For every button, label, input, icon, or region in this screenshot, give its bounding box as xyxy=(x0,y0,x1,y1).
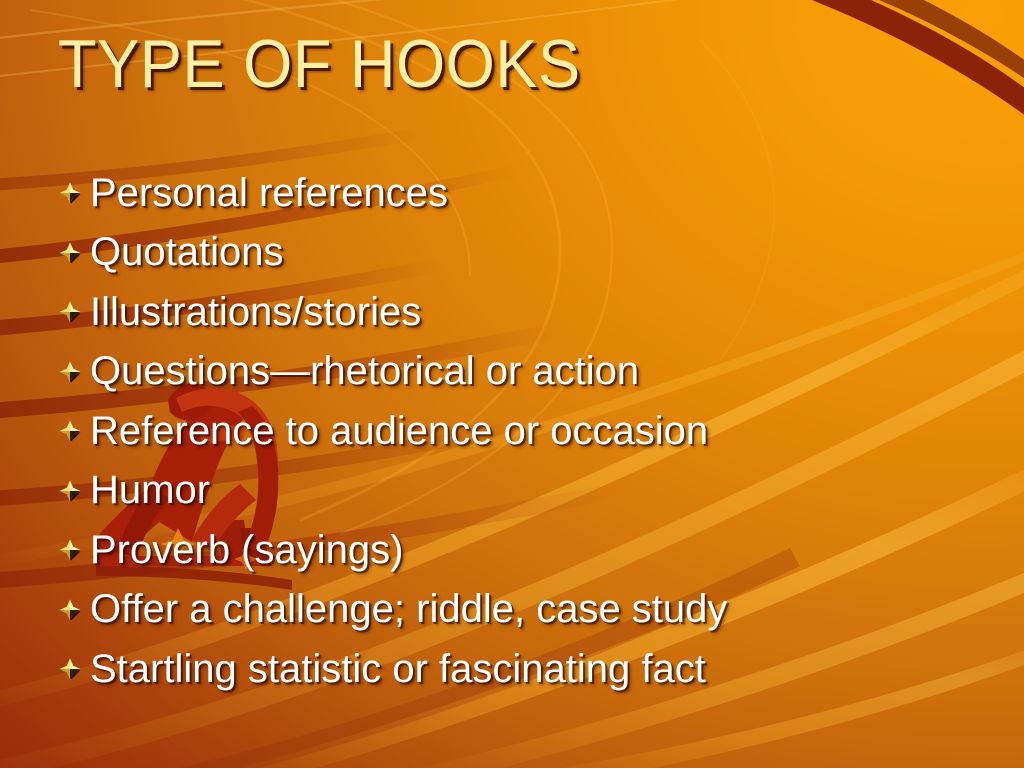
gold-diamond-bullet-icon xyxy=(58,657,82,681)
list-item-label: Startling statistic or fascinating fact xyxy=(90,647,706,691)
list-item: Personal references xyxy=(58,163,998,223)
list-item: Offer a challenge; riddle, case study xyxy=(58,580,998,640)
gold-diamond-bullet-icon xyxy=(58,419,82,443)
slide-title: TYPE OF HOOKS xyxy=(58,26,581,102)
list-item: Humor xyxy=(58,461,998,521)
bullet-list: Personal references Quotations xyxy=(58,163,998,699)
list-item-label: Proverb (sayings) xyxy=(90,528,403,572)
gold-diamond-bullet-icon xyxy=(58,598,82,622)
list-item-label: Quotations xyxy=(90,230,283,274)
list-item: Reference to audience or occasion xyxy=(58,401,998,461)
list-item: Questions—rhetorical or action xyxy=(58,342,998,402)
list-item: Quotations xyxy=(58,223,998,283)
list-item-label: Offer a challenge; riddle, case study xyxy=(90,587,727,631)
list-item-label: Illustrations/stories xyxy=(90,290,421,334)
gold-diamond-bullet-icon xyxy=(58,181,82,205)
list-item-label: Personal references xyxy=(90,171,448,215)
list-item: Proverb (sayings) xyxy=(58,520,998,580)
gold-diamond-bullet-icon xyxy=(58,300,82,324)
gold-diamond-bullet-icon xyxy=(58,479,82,503)
gold-diamond-bullet-icon xyxy=(58,241,82,265)
list-item: Startling statistic or fascinating fact xyxy=(58,639,998,699)
list-item-label: Humor xyxy=(90,468,210,512)
gold-diamond-bullet-icon xyxy=(58,538,82,562)
gold-diamond-bullet-icon xyxy=(58,360,82,384)
list-item: Illustrations/stories xyxy=(58,282,998,342)
list-item-label: Reference to audience or occasion xyxy=(90,409,708,453)
list-item-label: Questions—rhetorical or action xyxy=(90,349,639,393)
presentation-slide: TYPE OF HOOKS Personal references xyxy=(0,0,1024,768)
